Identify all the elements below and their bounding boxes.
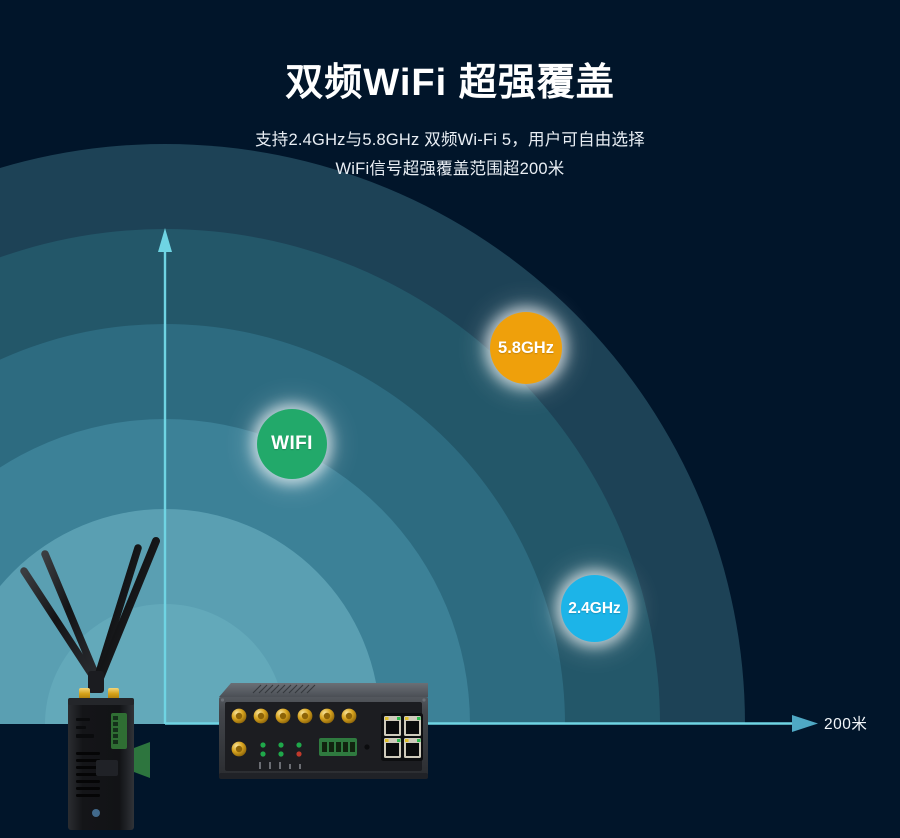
wifi-coverage-infographic: 200米 双频WiFi 超强覆盖 支持2.4GHz与5.8GHz 双频Wi-Fi… [0, 0, 900, 838]
led-net [296, 742, 301, 747]
antenna-hinge [88, 671, 104, 693]
led-alarm [296, 751, 301, 756]
terminal-block-horizontal [319, 738, 357, 756]
router-top-surface [219, 683, 428, 697]
subtitle-block: 支持2.4GHz与5.8GHz 双频Wi-Fi 5，用户可自由选择 WiFi信号… [0, 126, 900, 185]
subtitle-line-2: WiFi信号超强覆盖范围超200米 [0, 155, 900, 184]
led-wlan [278, 742, 283, 747]
badge-wifi[interactable]: WIFI [257, 409, 327, 479]
din-rail-bracket [134, 742, 150, 778]
led-lan [278, 751, 283, 756]
led-status [260, 751, 265, 756]
header-block: 双频WiFi 超强覆盖 支持2.4GHz与5.8GHz 双频Wi-Fi 5，用户… [0, 0, 900, 184]
router-top-cap [68, 698, 134, 705]
antenna-3 [98, 548, 138, 676]
page-title: 双频WiFi 超强覆盖 [0, 0, 900, 106]
antenna-group [24, 541, 156, 693]
subtitle-line-1: 支持2.4GHz与5.8GHz 双频Wi-Fi 5，用户可自由选择 [0, 126, 900, 155]
badge-band-2-4ghz[interactable]: 2.4GHz [561, 575, 628, 642]
brand-logo-vertical [92, 809, 100, 817]
ethernet-port-block [381, 713, 423, 761]
industrial-router-horizontal [215, 675, 430, 800]
router-bottom-edge [219, 773, 428, 779]
sim-card-slot [96, 760, 118, 776]
terminal-block-green [111, 713, 127, 749]
distance-axis-label: 200米 [824, 712, 867, 734]
badge-band-5-8ghz[interactable]: 5.8GHz [490, 312, 562, 384]
antenna-4 [100, 541, 156, 678]
sma-connector-lower [232, 742, 247, 757]
led-power [260, 742, 265, 747]
industrial-router-vertical [10, 530, 240, 830]
reset-button[interactable] [364, 744, 369, 749]
